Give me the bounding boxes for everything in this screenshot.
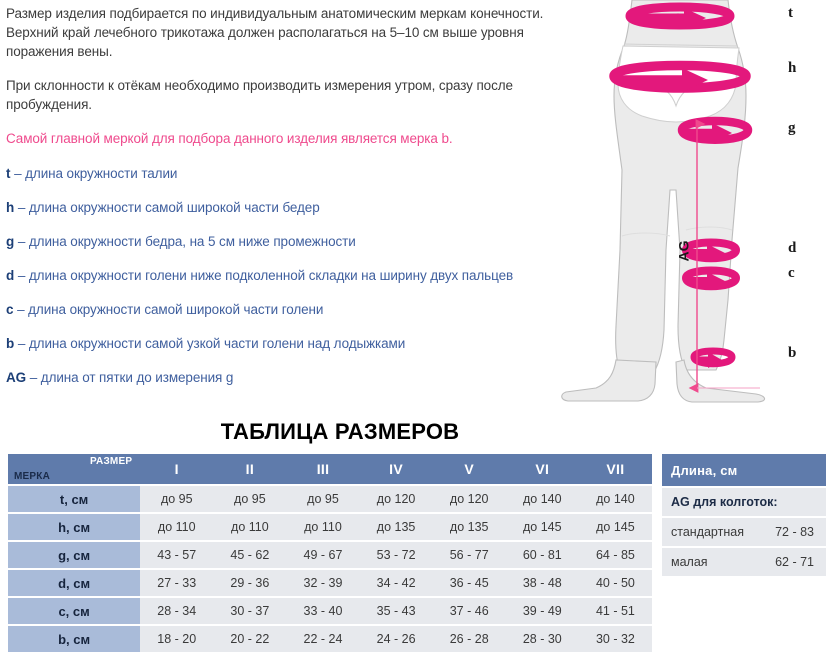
legend-item-c: c – длина окружности самой широкой части… (6, 302, 562, 318)
list-item: малая 62 - 71 (662, 548, 826, 576)
col-header-2: II (213, 454, 286, 484)
instructions-text-column: Размер изделия подбирается по индивидуал… (6, 4, 562, 404)
cell-t-7: до 140 (579, 486, 652, 512)
cell-d-1: 27 - 33 (140, 570, 213, 596)
cell-d-4: 34 - 42 (360, 570, 433, 596)
length-name-standard: стандартная (662, 518, 763, 546)
legend-text-ag: длина от пятки до измерения g (41, 370, 234, 385)
length-panel-table: Длина, см AG для колготок: стандартная 7… (662, 452, 826, 578)
list-item: стандартная 72 - 83 (662, 518, 826, 546)
legend-dash-d: – (18, 268, 25, 283)
diagram-label-t: t (788, 5, 793, 22)
legend-text-b: длина окружности самой узкой части голен… (29, 336, 405, 351)
legend-item-ag: AG – длина от пятки до измерения g (6, 370, 562, 386)
measure-band-b (694, 351, 732, 368)
cell-t-2: до 95 (213, 486, 286, 512)
row-label-b: b, см (8, 626, 140, 652)
cell-b-5: 26 - 28 (433, 626, 506, 652)
cell-g-2: 45 - 62 (213, 542, 286, 568)
cell-g-1: 43 - 57 (140, 542, 213, 568)
legend-dash-ag: – (30, 370, 37, 385)
cell-c-3: 33 - 40 (286, 598, 359, 624)
table-row: b, см 18 - 20 20 - 22 22 - 24 24 - 26 26… (8, 626, 652, 652)
legend-item-g: g – длина окружности бедра, на 5 см ниже… (6, 234, 562, 250)
legend-key-h: h (6, 200, 14, 215)
table-header-row: РАЗМЕР МЕРКА I II III IV V VI VII (8, 454, 652, 484)
cell-b-4: 24 - 26 (360, 626, 433, 652)
cell-d-3: 32 - 39 (286, 570, 359, 596)
cell-h-5: до 135 (433, 514, 506, 540)
cell-d-5: 36 - 45 (433, 570, 506, 596)
table-row: c, см 28 - 34 30 - 37 33 - 40 35 - 43 37… (8, 598, 652, 624)
legend-dash-h: – (18, 200, 25, 215)
diagram-label-h: h (788, 60, 796, 77)
legend-key-g: g (6, 234, 14, 249)
legend-dash-b: – (18, 336, 25, 351)
cell-h-2: до 110 (213, 514, 286, 540)
cell-t-1: до 95 (140, 486, 213, 512)
cell-h-3: до 110 (286, 514, 359, 540)
col-header-4: IV (360, 454, 433, 484)
table-row: h, см до 110 до 110 до 110 до 135 до 135… (8, 514, 652, 540)
legend-text-g: длина окружности бедра, на 5 см ниже про… (29, 234, 356, 249)
table-row: g, см 43 - 57 45 - 62 49 - 67 53 - 72 56… (8, 542, 652, 568)
legend-key-c: c (6, 302, 13, 317)
cell-c-6: 39 - 49 (506, 598, 579, 624)
cell-c-7: 41 - 51 (579, 598, 652, 624)
cell-g-6: 60 - 81 (506, 542, 579, 568)
intro-paragraph-1: Размер изделия подбирается по индивидуал… (6, 4, 562, 61)
legend-text-c: длина окружности самой широкой части гол… (28, 302, 323, 317)
cell-h-4: до 135 (360, 514, 433, 540)
row-label-g: g, см (8, 542, 140, 568)
row-label-c: c, см (8, 598, 140, 624)
legend-key-b: b (6, 336, 14, 351)
legend-text-h: длина окружности самой широкой части бед… (29, 200, 320, 215)
table-corner-cell: РАЗМЕР МЕРКА (8, 454, 140, 484)
legend-key-ag: AG (6, 370, 26, 385)
cell-b-2: 20 - 22 (213, 626, 286, 652)
measure-band-d (686, 243, 736, 263)
cell-d-2: 29 - 36 (213, 570, 286, 596)
cell-t-5: до 120 (433, 486, 506, 512)
cell-c-2: 30 - 37 (213, 598, 286, 624)
size-table: РАЗМЕР МЕРКА I II III IV V VI VII t, см … (8, 452, 652, 654)
cell-g-5: 56 - 77 (433, 542, 506, 568)
cell-h-7: до 145 (579, 514, 652, 540)
diagram-label-c: c (788, 265, 795, 282)
length-panel-header-row: Длина, см (662, 454, 826, 486)
corner-col-label: РАЗМЕР (90, 456, 132, 467)
cell-b-3: 22 - 24 (286, 626, 359, 652)
anatomical-measurement-diagram: AG t h g d c b (560, 0, 832, 410)
row-label-t: t, см (8, 486, 140, 512)
cell-t-3: до 95 (286, 486, 359, 512)
legend-item-b: b – длина окружности самой узкой части г… (6, 336, 562, 352)
length-name-small: малая (662, 548, 763, 576)
body-silhouette (562, 0, 765, 402)
measure-band-c (686, 271, 736, 291)
cell-c-1: 28 - 34 (140, 598, 213, 624)
intro-paragraph-2: При склонности к отёкам необходимо произ… (6, 76, 562, 114)
legend-text-t: длина окружности талии (25, 166, 177, 181)
diagram-label-b: b (788, 345, 796, 362)
cell-d-7: 40 - 50 (579, 570, 652, 596)
cell-c-4: 35 - 43 (360, 598, 433, 624)
col-header-3: III (286, 454, 359, 484)
legend-text-d: длина окружности голени ниже подколенной… (29, 268, 513, 283)
legend-key-d: d (6, 268, 14, 283)
length-value-small: 62 - 71 (763, 548, 826, 576)
col-header-7: VII (579, 454, 652, 484)
legend-key-t: t (6, 166, 10, 181)
length-panel-header: Длина, см (662, 454, 826, 486)
cell-h-1: до 110 (140, 514, 213, 540)
length-value-standard: 72 - 83 (763, 518, 826, 546)
cell-g-3: 49 - 67 (286, 542, 359, 568)
table-row: d, см 27 - 33 29 - 36 32 - 39 34 - 42 36… (8, 570, 652, 596)
length-panel-subheader: AG для колготок: (662, 488, 826, 516)
diagram-label-g: g (788, 120, 796, 137)
legend-item-d: d – длина окружности голени ниже подколе… (6, 268, 562, 284)
page-title: ТАБЛИЦА РАЗМЕРОВ (0, 419, 680, 445)
ag-dimension-label: AG (676, 241, 692, 262)
row-label-d: d, см (8, 570, 140, 596)
legend-dash-g: – (18, 234, 25, 249)
cell-b-6: 28 - 30 (506, 626, 579, 652)
legend-item-h: h – длина окружности самой широкой части… (6, 200, 562, 216)
col-header-1: I (140, 454, 213, 484)
length-panel-subheader-row: AG для колготок: (662, 488, 826, 516)
col-header-6: VI (506, 454, 579, 484)
cell-t-6: до 140 (506, 486, 579, 512)
col-header-5: V (433, 454, 506, 484)
legend-dash-t: – (14, 166, 21, 181)
cell-c-5: 37 - 46 (433, 598, 506, 624)
corner-row-label: МЕРКА (14, 471, 50, 482)
cell-d-6: 38 - 48 (506, 570, 579, 596)
diagram-label-d: d (788, 240, 796, 257)
cell-g-4: 53 - 72 (360, 542, 433, 568)
highlight-note: Самой главной меркой для подбора данного… (6, 129, 562, 148)
row-label-h: h, см (8, 514, 140, 540)
cell-b-7: 30 - 32 (579, 626, 652, 652)
table-row: t, см до 95 до 95 до 95 до 120 до 120 до… (8, 486, 652, 512)
cell-t-4: до 120 (360, 486, 433, 512)
legend-item-t: t – длина окружности талии (6, 166, 562, 182)
cell-b-1: 18 - 20 (140, 626, 213, 652)
cell-h-6: до 145 (506, 514, 579, 540)
legend-dash-c: – (17, 302, 24, 317)
cell-g-7: 64 - 85 (579, 542, 652, 568)
